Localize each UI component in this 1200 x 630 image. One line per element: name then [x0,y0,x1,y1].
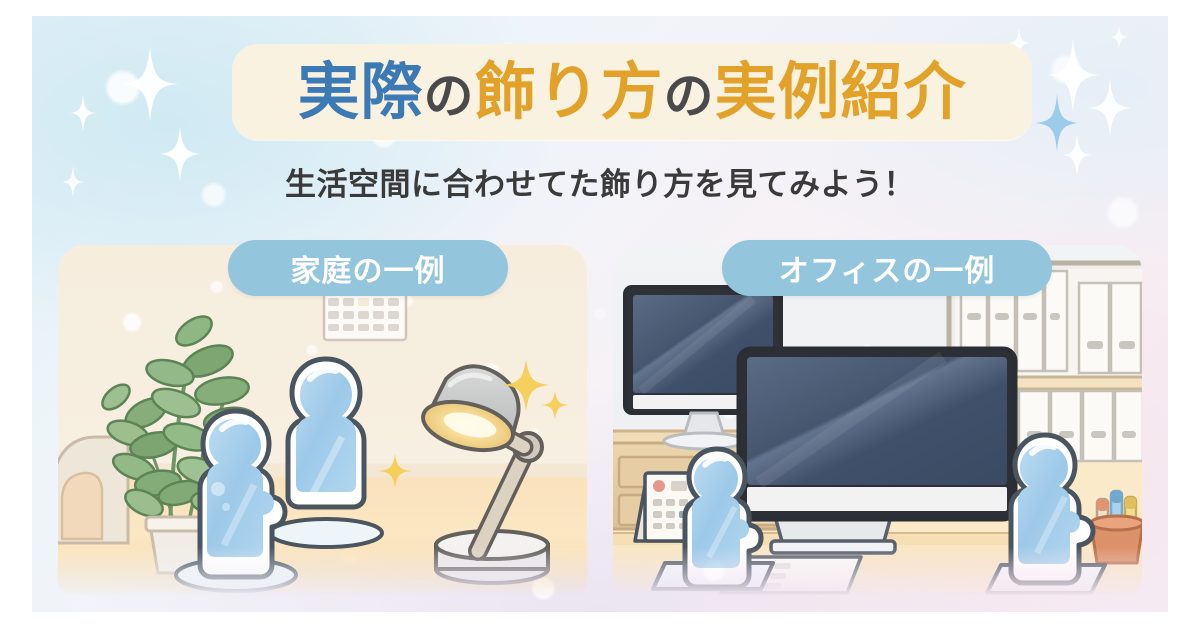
sofa-cushion-icon [58,437,128,543]
sparkle-icon [1088,78,1132,138]
panel-home-example [58,245,587,596]
title-segment-gold-2: 実例紹介 [715,55,967,128]
page-subtitle: 生活空間に合わせてた飾り方を見てみよう！ [32,159,1168,204]
poster-canvas: 実際の飾り方の実例紹介 生活空間に合わせてた飾り方を見てみよう！ [0,0,1200,630]
poster-graphic: 実際の飾り方の実例紹介 生活空間に合わせてた飾り方を見てみよう！ [32,16,1168,612]
sparkle-icon [378,454,412,488]
sparkle-icon [1046,38,1100,112]
scene-home-illustration [58,245,587,596]
monitor-icon [739,349,1015,553]
badge-home-example[interactable]: 家庭の一例 [228,240,508,296]
sparkle-icon-blue [1036,94,1078,152]
badge-office-example[interactable]: オフィスの一例 [722,240,1052,296]
title-segment-gold-1: 飾り方 [474,55,663,128]
title-segment-dark-2: の [664,67,715,125]
title-segment-dark-1: の [423,67,474,125]
title-banner: 実際の飾り方の実例紹介 [232,44,1032,140]
panel-office-example [613,245,1142,596]
sparkle-icon [1110,24,1128,50]
pen-holder-icon [1091,491,1142,563]
sparkle-icon [122,46,178,122]
office-scene-art [613,245,1142,596]
acrylic-stand-figure-icon [270,359,382,547]
home-scene-art [58,245,587,596]
scene-office-illustration [613,245,1142,596]
sparkle-icon [70,94,96,132]
title-segment-blue: 実際 [297,55,423,128]
sparkle-icon [541,391,569,419]
page-title: 実際の飾り方の実例紹介 [297,61,966,123]
